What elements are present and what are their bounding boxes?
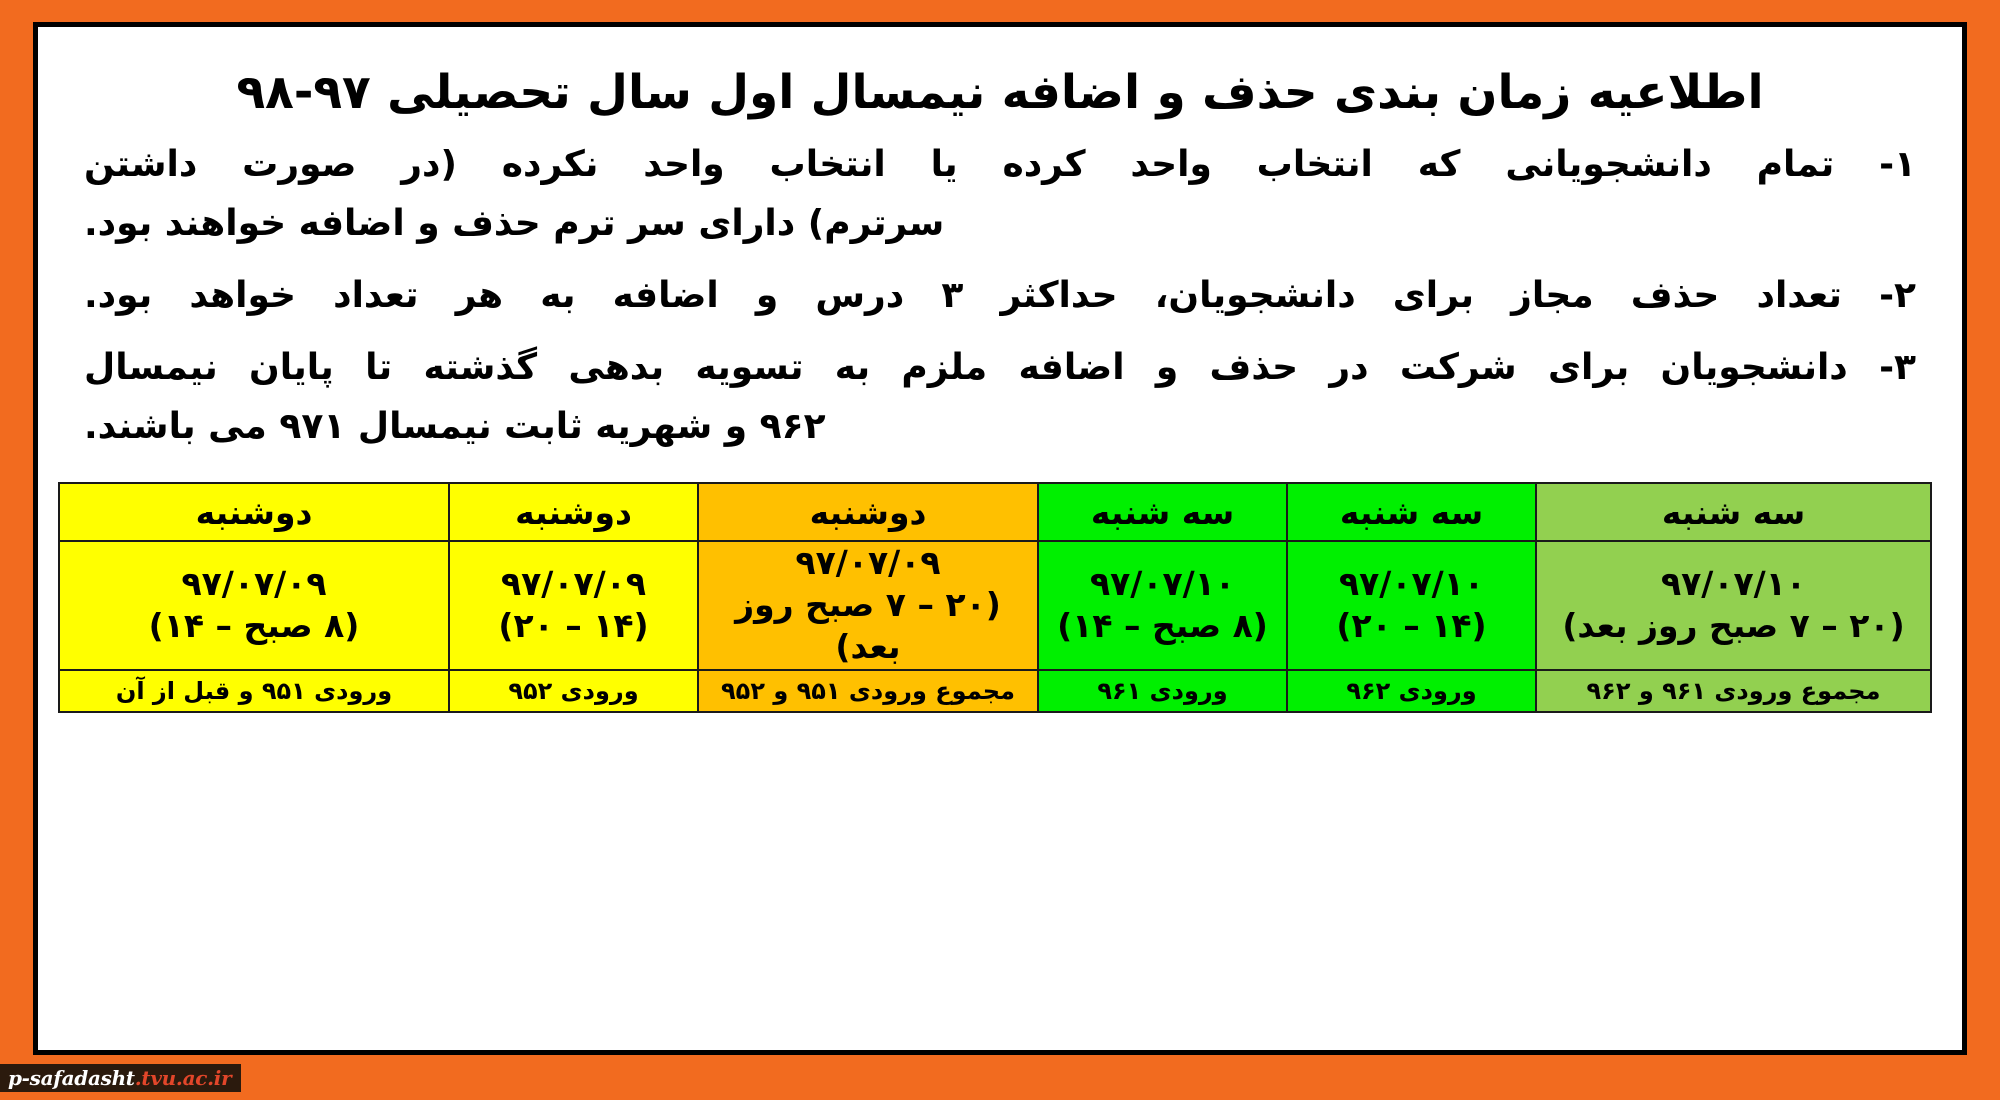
cell-date-3: ۹۷/۰۷/۱۰ <box>1043 563 1282 605</box>
clause-2: ۲- تعداد حذف مجاز برای دانشجویان، حداکثر… <box>84 267 1916 325</box>
table-row-group: مجموع ورودی ۹۶۱ و ۹۶۲ ورودی ۹۶۲ ورودی ۹۶… <box>59 670 1931 712</box>
cell-group-2: مجموع ورودی ۹۵۱ و ۹۵۲ <box>698 670 1038 712</box>
cell-day-3: سه شنبه <box>1038 483 1287 541</box>
schedule-table-wrapper: سه شنبه سه شنبه سه شنبه دوشنبه دوشنبه دو… <box>68 482 1932 713</box>
cell-date-0: ۹۷/۰۷/۰۹ <box>64 563 444 605</box>
page-title: اطلاعیه زمان بندی حذف و اضافه نیمسال اول… <box>60 61 1940 124</box>
cell-time-5: (۲۰ – ۷ صبح روز بعد) <box>1541 605 1926 647</box>
table-row-datetime: ۹۷/۰۷/۱۰ (۲۰ – ۷ صبح روز بعد) ۹۷/۰۷/۱۰ (… <box>59 541 1931 670</box>
clause-1-line-2: سرترم) دارای سر ترم حذف و اضافه خواهند ب… <box>84 195 1916 253</box>
watermark-domain-name: p-safadasht <box>8 1066 135 1090</box>
cell-time-4: (۱۴ – ۲۰) <box>1292 605 1531 647</box>
cell-datetime-4: ۹۷/۰۷/۱۰ (۱۴ – ۲۰) <box>1287 541 1536 670</box>
schedule-table: سه شنبه سه شنبه سه شنبه دوشنبه دوشنبه دو… <box>58 482 1932 713</box>
cell-datetime-3: ۹۷/۰۷/۱۰ (۸ صبح – ۱۴) <box>1038 541 1287 670</box>
cell-group-5: مجموع ورودی ۹۶۱ و ۹۶۲ <box>1536 670 1931 712</box>
poster-content: اطلاعیه زمان بندی حذف و اضافه نیمسال اول… <box>38 27 1962 1050</box>
cell-group-1: ورودی ۹۵۲ <box>449 670 698 712</box>
cell-time-0: (۸ صبح – ۱۴) <box>64 605 444 647</box>
cell-time-2: (۲۰ – ۷ صبح روز بعد) <box>703 584 1033 668</box>
cell-datetime-5: ۹۷/۰۷/۱۰ (۲۰ – ۷ صبح روز بعد) <box>1536 541 1931 670</box>
cell-day-4: سه شنبه <box>1287 483 1536 541</box>
cell-group-0: ورودی ۹۵۱ و قبل از آن <box>59 670 449 712</box>
cell-day-2: دوشنبه <box>698 483 1038 541</box>
poster-orange-frame: اطلاعیه زمان بندی حذف و اضافه نیمسال اول… <box>0 0 2000 1100</box>
watermark-domain-suffix: .tvu.ac.ir <box>135 1066 232 1090</box>
cell-datetime-1: ۹۷/۰۷/۰۹ (۱۴ – ۲۰) <box>449 541 698 670</box>
clause-1-line-1: ۱- تمام دانشجویانی که انتخاب واحد کرده ی… <box>84 136 1916 194</box>
cell-day-0: دوشنبه <box>59 483 449 541</box>
cell-group-4: ورودی ۹۶۲ <box>1287 670 1536 712</box>
cell-datetime-2: ۹۷/۰۷/۰۹ (۲۰ – ۷ صبح روز بعد) <box>698 541 1038 670</box>
cell-day-5: سه شنبه <box>1536 483 1931 541</box>
cell-time-1: (۱۴ – ۲۰) <box>454 605 693 647</box>
clause-3: ۳- دانشجویان برای شرکت در حذف و اضافه مل… <box>84 339 1916 456</box>
site-watermark: p-safadasht.tvu.ac.ir <box>0 1064 241 1092</box>
cell-time-3: (۸ صبح – ۱۴) <box>1043 605 1282 647</box>
table-row-day: سه شنبه سه شنبه سه شنبه دوشنبه دوشنبه دو… <box>59 483 1931 541</box>
clause-1: ۱- تمام دانشجویانی که انتخاب واحد کرده ی… <box>84 136 1916 253</box>
cell-datetime-0: ۹۷/۰۷/۰۹ (۸ صبح – ۱۴) <box>59 541 449 670</box>
cell-date-1: ۹۷/۰۷/۰۹ <box>454 563 693 605</box>
cell-date-5: ۹۷/۰۷/۱۰ <box>1541 563 1926 605</box>
clause-2-line-1: ۲- تعداد حذف مجاز برای دانشجویان، حداکثر… <box>84 267 1916 325</box>
cell-group-3: ورودی ۹۶۱ <box>1038 670 1287 712</box>
cell-date-4: ۹۷/۰۷/۱۰ <box>1292 563 1531 605</box>
poster-paper: اطلاعیه زمان بندی حذف و اضافه نیمسال اول… <box>33 22 1967 1055</box>
cell-day-1: دوشنبه <box>449 483 698 541</box>
cell-date-2: ۹۷/۰۷/۰۹ <box>703 542 1033 584</box>
clause-3-line-1: ۳- دانشجویان برای شرکت در حذف و اضافه مل… <box>84 339 1916 397</box>
clause-3-line-2: ۹۶۲ و شهریه ثابت نیمسال ۹۷۱ می باشند. <box>84 398 1916 456</box>
